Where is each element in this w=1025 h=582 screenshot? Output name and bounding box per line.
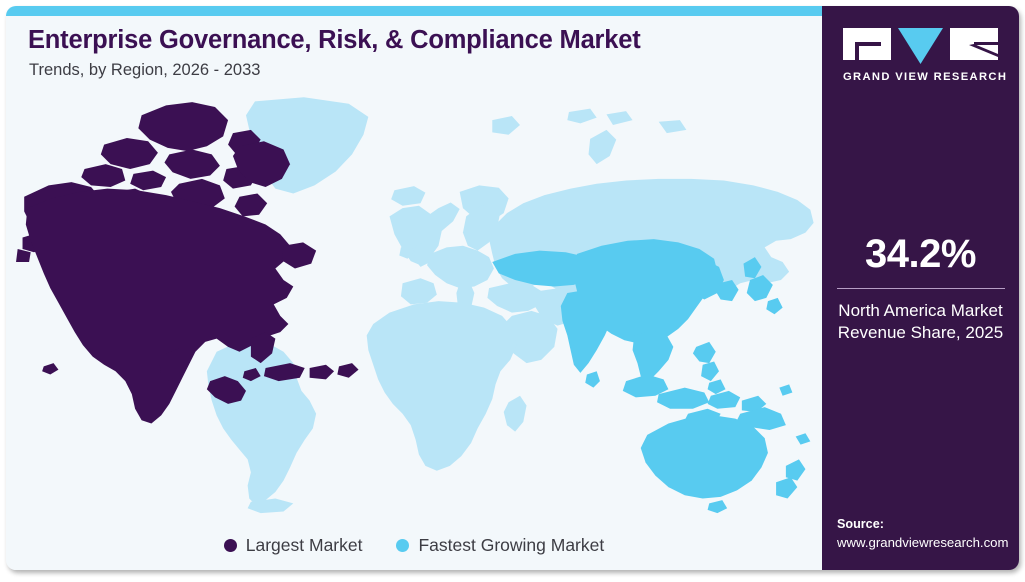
legend: Largest Market Fastest Growing Market: [6, 535, 822, 556]
world-map-svg: [6, 94, 822, 514]
legend-label-fastest: Fastest Growing Market: [418, 535, 604, 556]
brand-wordmark: GRAND VIEW RESEARCH: [843, 71, 998, 83]
stat-block: 34.2% North America Market Revenue Share…: [822, 234, 1019, 345]
stat-value: 34.2%: [834, 234, 1007, 274]
page-subtitle: Trends, by Region, 2026 - 2033: [29, 61, 641, 80]
source-url[interactable]: www.grandviewresearch.com: [837, 533, 1009, 552]
source-block: Source: www.grandviewresearch.com: [837, 515, 1009, 552]
legend-dot-fastest-icon: [396, 539, 409, 552]
legend-label-largest: Largest Market: [246, 535, 363, 556]
source-label: Source:: [837, 515, 1009, 533]
title-block: Enterprise Governance, Risk, & Complianc…: [28, 26, 641, 80]
stat-divider: [837, 288, 1005, 289]
stat-caption-line-2: Revenue Share, 2025: [834, 322, 1007, 344]
brand-logo: GRAND VIEW RESEARCH: [843, 26, 998, 83]
legend-item-fastest-growing-market: Fastest Growing Market: [396, 535, 604, 556]
legend-item-largest-market: Largest Market: [224, 535, 363, 556]
gvr-logo-icon: [843, 26, 998, 64]
legend-dot-largest-icon: [224, 539, 237, 552]
side-panel: GRAND VIEW RESEARCH 34.2% North America …: [822, 6, 1019, 570]
infographic-card: Enterprise Governance, Risk, & Complianc…: [6, 6, 1019, 570]
stat-caption-line-1: North America Market: [834, 300, 1007, 322]
world-map: [6, 94, 822, 514]
map-panel: Enterprise Governance, Risk, & Complianc…: [6, 6, 822, 570]
top-accent-stripe: [6, 6, 822, 16]
page-title: Enterprise Governance, Risk, & Complianc…: [28, 26, 641, 55]
